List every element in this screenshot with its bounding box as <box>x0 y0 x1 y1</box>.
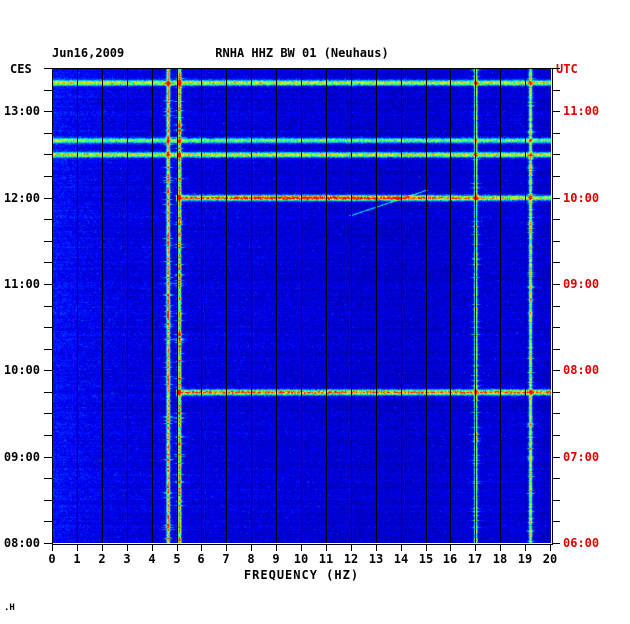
y-tick-left <box>44 219 52 220</box>
frequency-gridline <box>152 68 153 543</box>
frequency-gridline <box>276 68 277 543</box>
x-tick-label: 6 <box>191 552 211 566</box>
x-tick <box>52 544 53 551</box>
y-tick-right <box>552 457 560 458</box>
x-tick <box>376 544 377 551</box>
x-tick <box>351 544 352 551</box>
y-tick-right <box>552 543 560 544</box>
y-tick-label-right: 08:00 <box>563 363 599 377</box>
y-tick-right <box>552 413 560 414</box>
frequency-gridline <box>475 68 476 543</box>
x-tick-label: 11 <box>316 552 336 566</box>
y-tick-right <box>552 306 560 307</box>
frequency-gridline <box>525 68 526 543</box>
y-tick-right <box>552 500 560 501</box>
y-tick-left <box>44 262 52 263</box>
frequency-gridline <box>351 68 352 543</box>
frequency-gridline <box>77 68 78 543</box>
frequency-gridline <box>401 68 402 543</box>
y-tick-right <box>552 133 560 134</box>
right-axis-name: UTC <box>556 62 578 76</box>
y-tick-right <box>552 154 560 155</box>
x-tick-label: 16 <box>440 552 460 566</box>
y-tick-right <box>552 392 560 393</box>
x-tick <box>326 544 327 551</box>
x-tick-label: 1 <box>67 552 87 566</box>
x-tick-label: 18 <box>490 552 510 566</box>
y-tick-left <box>44 543 52 544</box>
y-tick-right <box>552 370 560 371</box>
x-tick-label: 5 <box>167 552 187 566</box>
frequency-gridline <box>376 68 377 543</box>
x-tick <box>152 544 153 551</box>
x-tick <box>500 544 501 551</box>
frequency-gridline <box>301 68 302 543</box>
y-tick-right <box>552 327 560 328</box>
y-tick-right <box>552 198 560 199</box>
y-tick-label-left: 11:00 <box>0 277 40 291</box>
y-tick-left <box>44 413 52 414</box>
x-tick <box>301 544 302 551</box>
y-tick-label-left: 09:00 <box>0 450 40 464</box>
y-tick-label-right: 06:00 <box>563 536 599 550</box>
frequency-gridline <box>102 68 103 543</box>
x-tick-label: 20 <box>540 552 560 566</box>
left-axis-name: CES <box>10 62 32 76</box>
y-tick-right <box>552 111 560 112</box>
y-tick-right <box>552 90 560 91</box>
frequency-gridline <box>326 68 327 543</box>
x-tick <box>475 544 476 551</box>
x-tick <box>426 544 427 551</box>
y-tick-left <box>44 90 52 91</box>
x-tick <box>102 544 103 551</box>
y-tick-right <box>552 349 560 350</box>
y-tick-left <box>44 176 52 177</box>
x-tick-label: 3 <box>117 552 137 566</box>
frequency-gridline <box>177 68 178 543</box>
x-tick <box>226 544 227 551</box>
frequency-gridline <box>500 68 501 543</box>
y-tick-right <box>552 262 560 263</box>
y-tick-left <box>44 68 52 69</box>
y-tick-left <box>44 500 52 501</box>
y-tick-left <box>44 478 52 479</box>
x-tick <box>177 544 178 551</box>
y-tick-label-right: 11:00 <box>563 104 599 118</box>
x-tick-label: 13 <box>366 552 386 566</box>
x-tick-label: 9 <box>266 552 286 566</box>
y-tick-left <box>44 457 52 458</box>
x-tick-label: 10 <box>291 552 311 566</box>
y-tick-label-left: 10:00 <box>0 363 40 377</box>
frequency-gridline <box>226 68 227 543</box>
y-tick-right <box>552 435 560 436</box>
x-tick-label: 15 <box>416 552 436 566</box>
y-tick-left <box>44 284 52 285</box>
x-tick <box>127 544 128 551</box>
x-tick <box>276 544 277 551</box>
y-tick-left <box>44 241 52 242</box>
y-tick-right <box>552 176 560 177</box>
x-tick <box>401 544 402 551</box>
y-tick-right <box>552 521 560 522</box>
x-tick-label: 2 <box>92 552 112 566</box>
spectrogram-page: Jun16,2009 RNHA HHZ BW 01 (Neuhaus) CES … <box>0 0 630 624</box>
y-tick-left <box>44 370 52 371</box>
y-tick-left <box>44 521 52 522</box>
y-tick-left <box>44 154 52 155</box>
corner-artifact: .H <box>4 603 15 613</box>
x-tick-label: 19 <box>515 552 535 566</box>
x-tick-label: 0 <box>42 552 62 566</box>
y-tick-right <box>552 284 560 285</box>
x-tick-label: 8 <box>241 552 261 566</box>
frequency-gridline <box>426 68 427 543</box>
y-tick-label-right: 09:00 <box>563 277 599 291</box>
y-tick-label-left: 13:00 <box>0 104 40 118</box>
frequency-gridline <box>450 68 451 543</box>
frequency-gridline <box>201 68 202 543</box>
y-tick-left <box>44 133 52 134</box>
x-tick-label: 12 <box>341 552 361 566</box>
x-tick <box>201 544 202 551</box>
x-tick <box>77 544 78 551</box>
y-tick-left <box>44 111 52 112</box>
y-tick-label-right: 07:00 <box>563 450 599 464</box>
y-tick-right <box>552 241 560 242</box>
x-tick-label: 14 <box>391 552 411 566</box>
x-tick-label: 7 <box>216 552 236 566</box>
x-tick <box>550 544 551 551</box>
y-tick-left <box>44 392 52 393</box>
y-tick-left <box>44 349 52 350</box>
y-tick-right <box>552 478 560 479</box>
y-tick-left <box>44 306 52 307</box>
y-tick-label-left: 08:00 <box>0 536 40 550</box>
x-tick <box>525 544 526 551</box>
x-axis-title: FREQUENCY (HZ) <box>52 568 551 582</box>
x-tick-label: 4 <box>142 552 162 566</box>
y-tick-label-left: 12:00 <box>0 191 40 205</box>
frequency-gridline <box>251 68 252 543</box>
y-tick-right <box>552 68 560 69</box>
y-tick-label-right: 10:00 <box>563 191 599 205</box>
y-tick-left <box>44 435 52 436</box>
spectrogram-plot[interactable] <box>52 68 551 543</box>
page-title: RNHA HHZ BW 01 (Neuhaus) <box>52 46 552 60</box>
x-tick <box>450 544 451 551</box>
y-tick-right <box>552 219 560 220</box>
y-tick-left <box>44 327 52 328</box>
frequency-gridline <box>127 68 128 543</box>
x-tick-label: 17 <box>465 552 485 566</box>
y-tick-left <box>44 198 52 199</box>
x-tick <box>251 544 252 551</box>
